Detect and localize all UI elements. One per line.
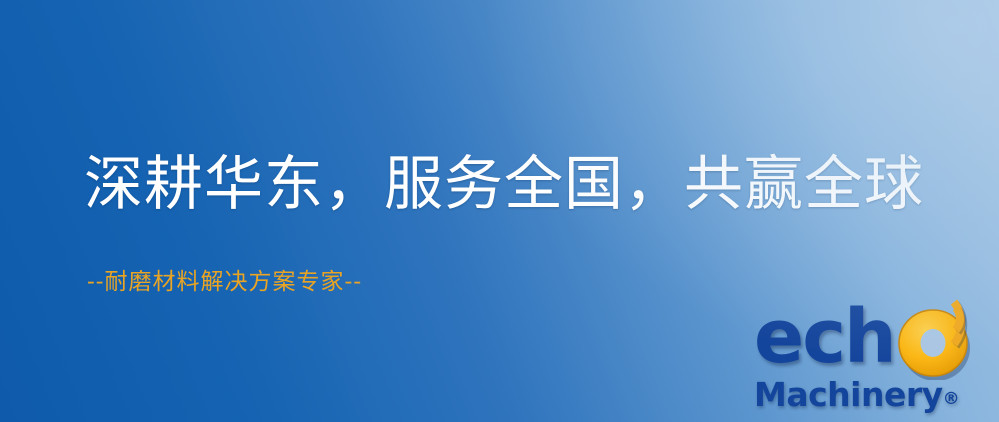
logo-wordmark-ech: ech bbox=[754, 300, 895, 374]
logo-wordmark-machinery: Machinery® bbox=[754, 378, 960, 416]
registered-trademark-mark: ® bbox=[943, 389, 960, 409]
logo-machinery-text: Machinery bbox=[754, 375, 943, 414]
banner-subtitle: --耐磨材料解决方案专家-- bbox=[87, 271, 362, 294]
promo-banner: 深耕华东，服务全国，共赢全球 --耐磨材料解决方案专家-- ech bbox=[0, 0, 999, 422]
logo-signal-arcs-icon bbox=[934, 292, 999, 364]
banner-headline: 深耕华东，服务全国，共赢全球 bbox=[84, 154, 924, 213]
company-logo: ech Machinery® bbox=[748, 296, 998, 420]
